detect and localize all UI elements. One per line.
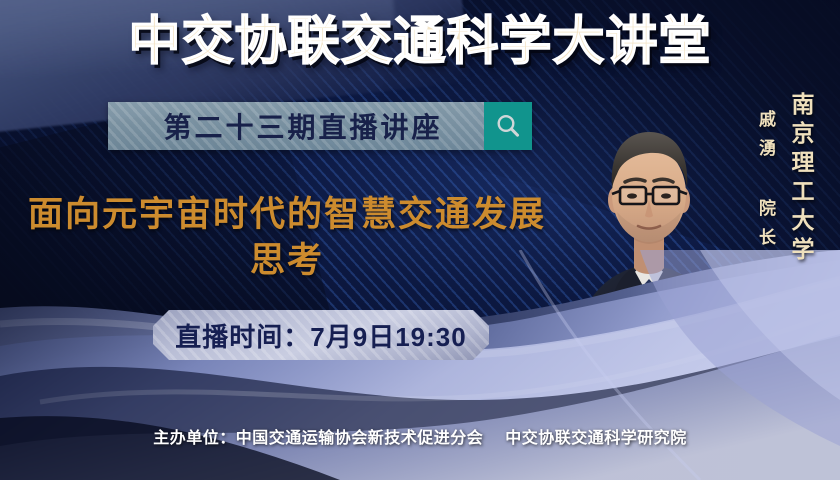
broadcast-time-text: 直播时间：7月9日19:30: [175, 317, 466, 354]
lecture-topic: 面向元宇宙时代的智慧交通发展思考: [22, 192, 552, 284]
footer-organizer-1: 中国交通运输协会新技术促进分会: [236, 430, 484, 447]
search-icon-box[interactable]: [484, 102, 532, 150]
search-icon: [495, 113, 521, 139]
speaker-organization: 南京理工大学: [784, 92, 818, 266]
live-lecture-poster: 中交协联交通科学大讲堂 第二十三期直播讲座 面向元宇宙时代的智慧交通发展思考 直…: [0, 0, 840, 480]
footer-organizers: 主办单位：中国交通运输协会新技术促进分会中交协联交通科学研究院: [0, 424, 840, 448]
series-label: 第二十三期直播讲座: [108, 102, 484, 150]
page-title: 中交协联交通科学大讲堂: [0, 14, 840, 70]
series-bar[interactable]: 第二十三期直播讲座: [108, 102, 532, 150]
footer-organizer-label: 主办单位：: [153, 430, 236, 447]
footer-organizer-2: 中交协联交通科学研究院: [505, 430, 687, 447]
broadcast-time-badge: 直播时间：7月9日19:30: [153, 310, 489, 360]
speaker-name-title: 戚湧 院长: [753, 110, 778, 257]
